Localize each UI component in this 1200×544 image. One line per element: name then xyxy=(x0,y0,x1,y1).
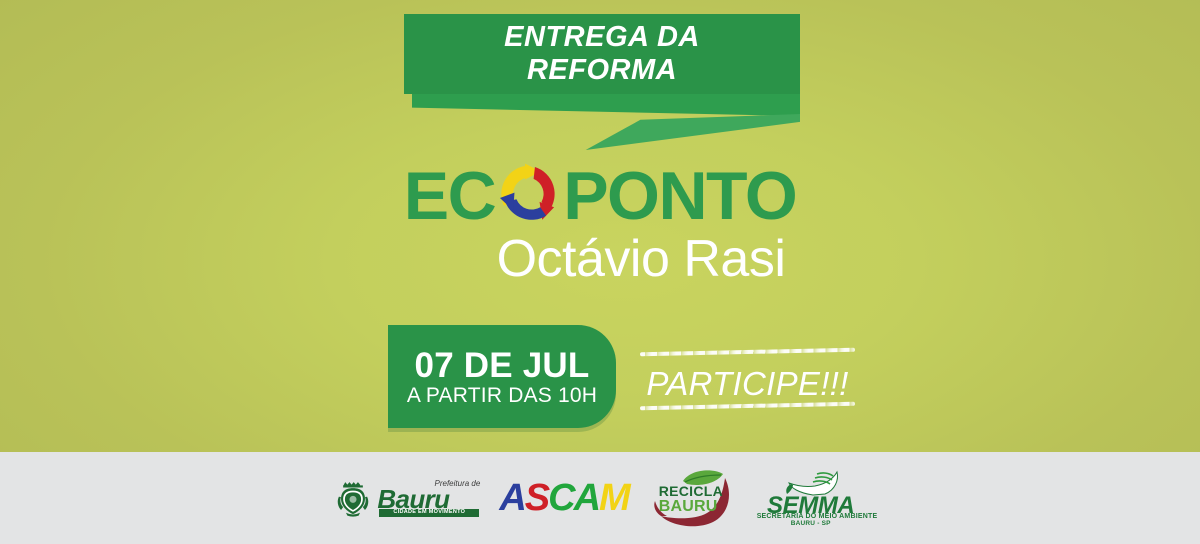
semma-subtitle-1: SECRETARIA DO MEIO AMBIENTE xyxy=(757,513,865,520)
ascam-letter-3: C xyxy=(548,477,573,519)
bauru-tagline: CIDADE EM MOVIMENTO xyxy=(393,510,465,516)
ascam-letter-5: M xyxy=(599,477,629,519)
ecoponto-word-prefix: EC xyxy=(404,162,495,230)
logo-prefeitura-bauru: Prefeitura de Bauru CIDADE EM MOVIMENTO xyxy=(335,479,481,517)
recicla-line2: BAURU xyxy=(659,499,723,516)
call-to-action: PARTICIPE!!! xyxy=(640,338,855,418)
ecoponto-logo: EC PONTO Octávio Rasi xyxy=(0,160,1200,290)
ribbon-fold-band xyxy=(412,94,800,116)
ribbon-headline: ENTREGA DA REFORMA xyxy=(404,14,800,94)
ascam-letter-4: A xyxy=(574,477,599,519)
ascam-letter-1: A xyxy=(499,477,524,519)
logo-semma: SEMMA SECRETARIA DO MEIO AMBIENTE BAURU … xyxy=(757,470,865,526)
recicla-wordmark: RECICLA BAURU xyxy=(659,484,723,515)
call-to-action-text: PARTICIPE!!! xyxy=(640,364,855,404)
ecoponto-subtitle: Octávio Rasi xyxy=(497,232,786,287)
sponsor-logo-bar: Prefeitura de Bauru CIDADE EM MOVIMENTO … xyxy=(0,452,1200,544)
logo-recicla-bauru: RECICLA BAURU xyxy=(647,468,739,528)
recycle-arrows-icon xyxy=(496,161,562,227)
event-time: A PARTIR DAS 10H xyxy=(407,385,597,406)
ribbon-banner: ENTREGA DA REFORMA xyxy=(404,14,800,142)
event-date: 07 DE JUL xyxy=(415,348,590,383)
bauru-wordmark: Prefeitura de Bauru CIDADE EM MOVIMENTO xyxy=(377,479,481,517)
ecoponto-subtitle-row: Octávio Rasi xyxy=(0,232,1200,287)
ribbon-headline-line1: ENTREGA DA xyxy=(504,22,700,53)
ecoponto-wordmark: EC PONTO xyxy=(0,160,1200,232)
ribbon-tail-point xyxy=(572,114,800,150)
bauru-crest-icon xyxy=(335,479,371,517)
ribbon-headline-line2: REFORMA xyxy=(527,55,677,86)
ecoponto-word-suffix: PONTO xyxy=(563,162,796,230)
event-promo-banner: ENTREGA DA REFORMA EC PONTO xyxy=(0,0,1200,544)
semma-subtitle-2: BAURU - SP xyxy=(757,521,865,528)
recicla-line1: RECICLA xyxy=(659,484,723,499)
bauru-tagline-bar: CIDADE EM MOVIMENTO xyxy=(379,509,479,517)
ascam-wordmark: ASCAM xyxy=(499,479,628,517)
logo-ascam: ASCAM xyxy=(499,479,628,517)
event-date-badge: 07 DE JUL A PARTIR DAS 10H xyxy=(388,325,616,428)
ascam-letter-2: S xyxy=(525,477,548,519)
chalk-rule-top xyxy=(640,348,855,357)
